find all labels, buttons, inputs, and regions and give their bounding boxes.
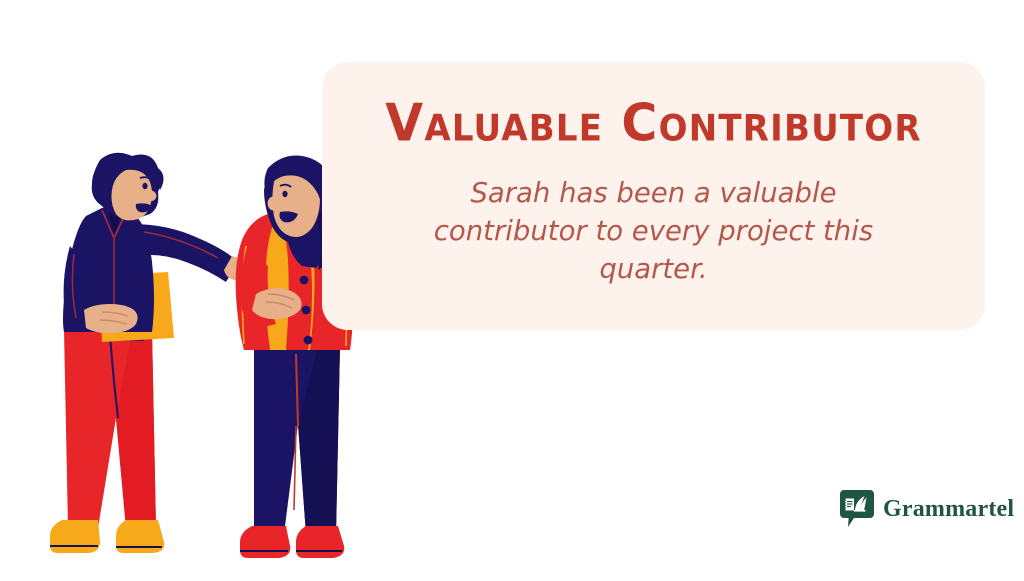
quote-card: Valuable Contributor Sarah has been a va… <box>322 62 985 330</box>
right-trousers <box>254 346 340 534</box>
left-shoes <box>50 520 164 553</box>
right-shoes <box>240 526 344 558</box>
brand-logo: Grammartel <box>840 490 1014 528</box>
figure-colleague-left <box>50 153 272 553</box>
quote-text: Sarah has been a valuable contributor to… <box>426 175 881 289</box>
speech-bubble-book-quill-icon <box>840 490 874 528</box>
left-trousers <box>64 330 156 528</box>
page-title: Valuable Contributor <box>362 96 945 152</box>
brand-name: Grammartel <box>883 496 1014 523</box>
